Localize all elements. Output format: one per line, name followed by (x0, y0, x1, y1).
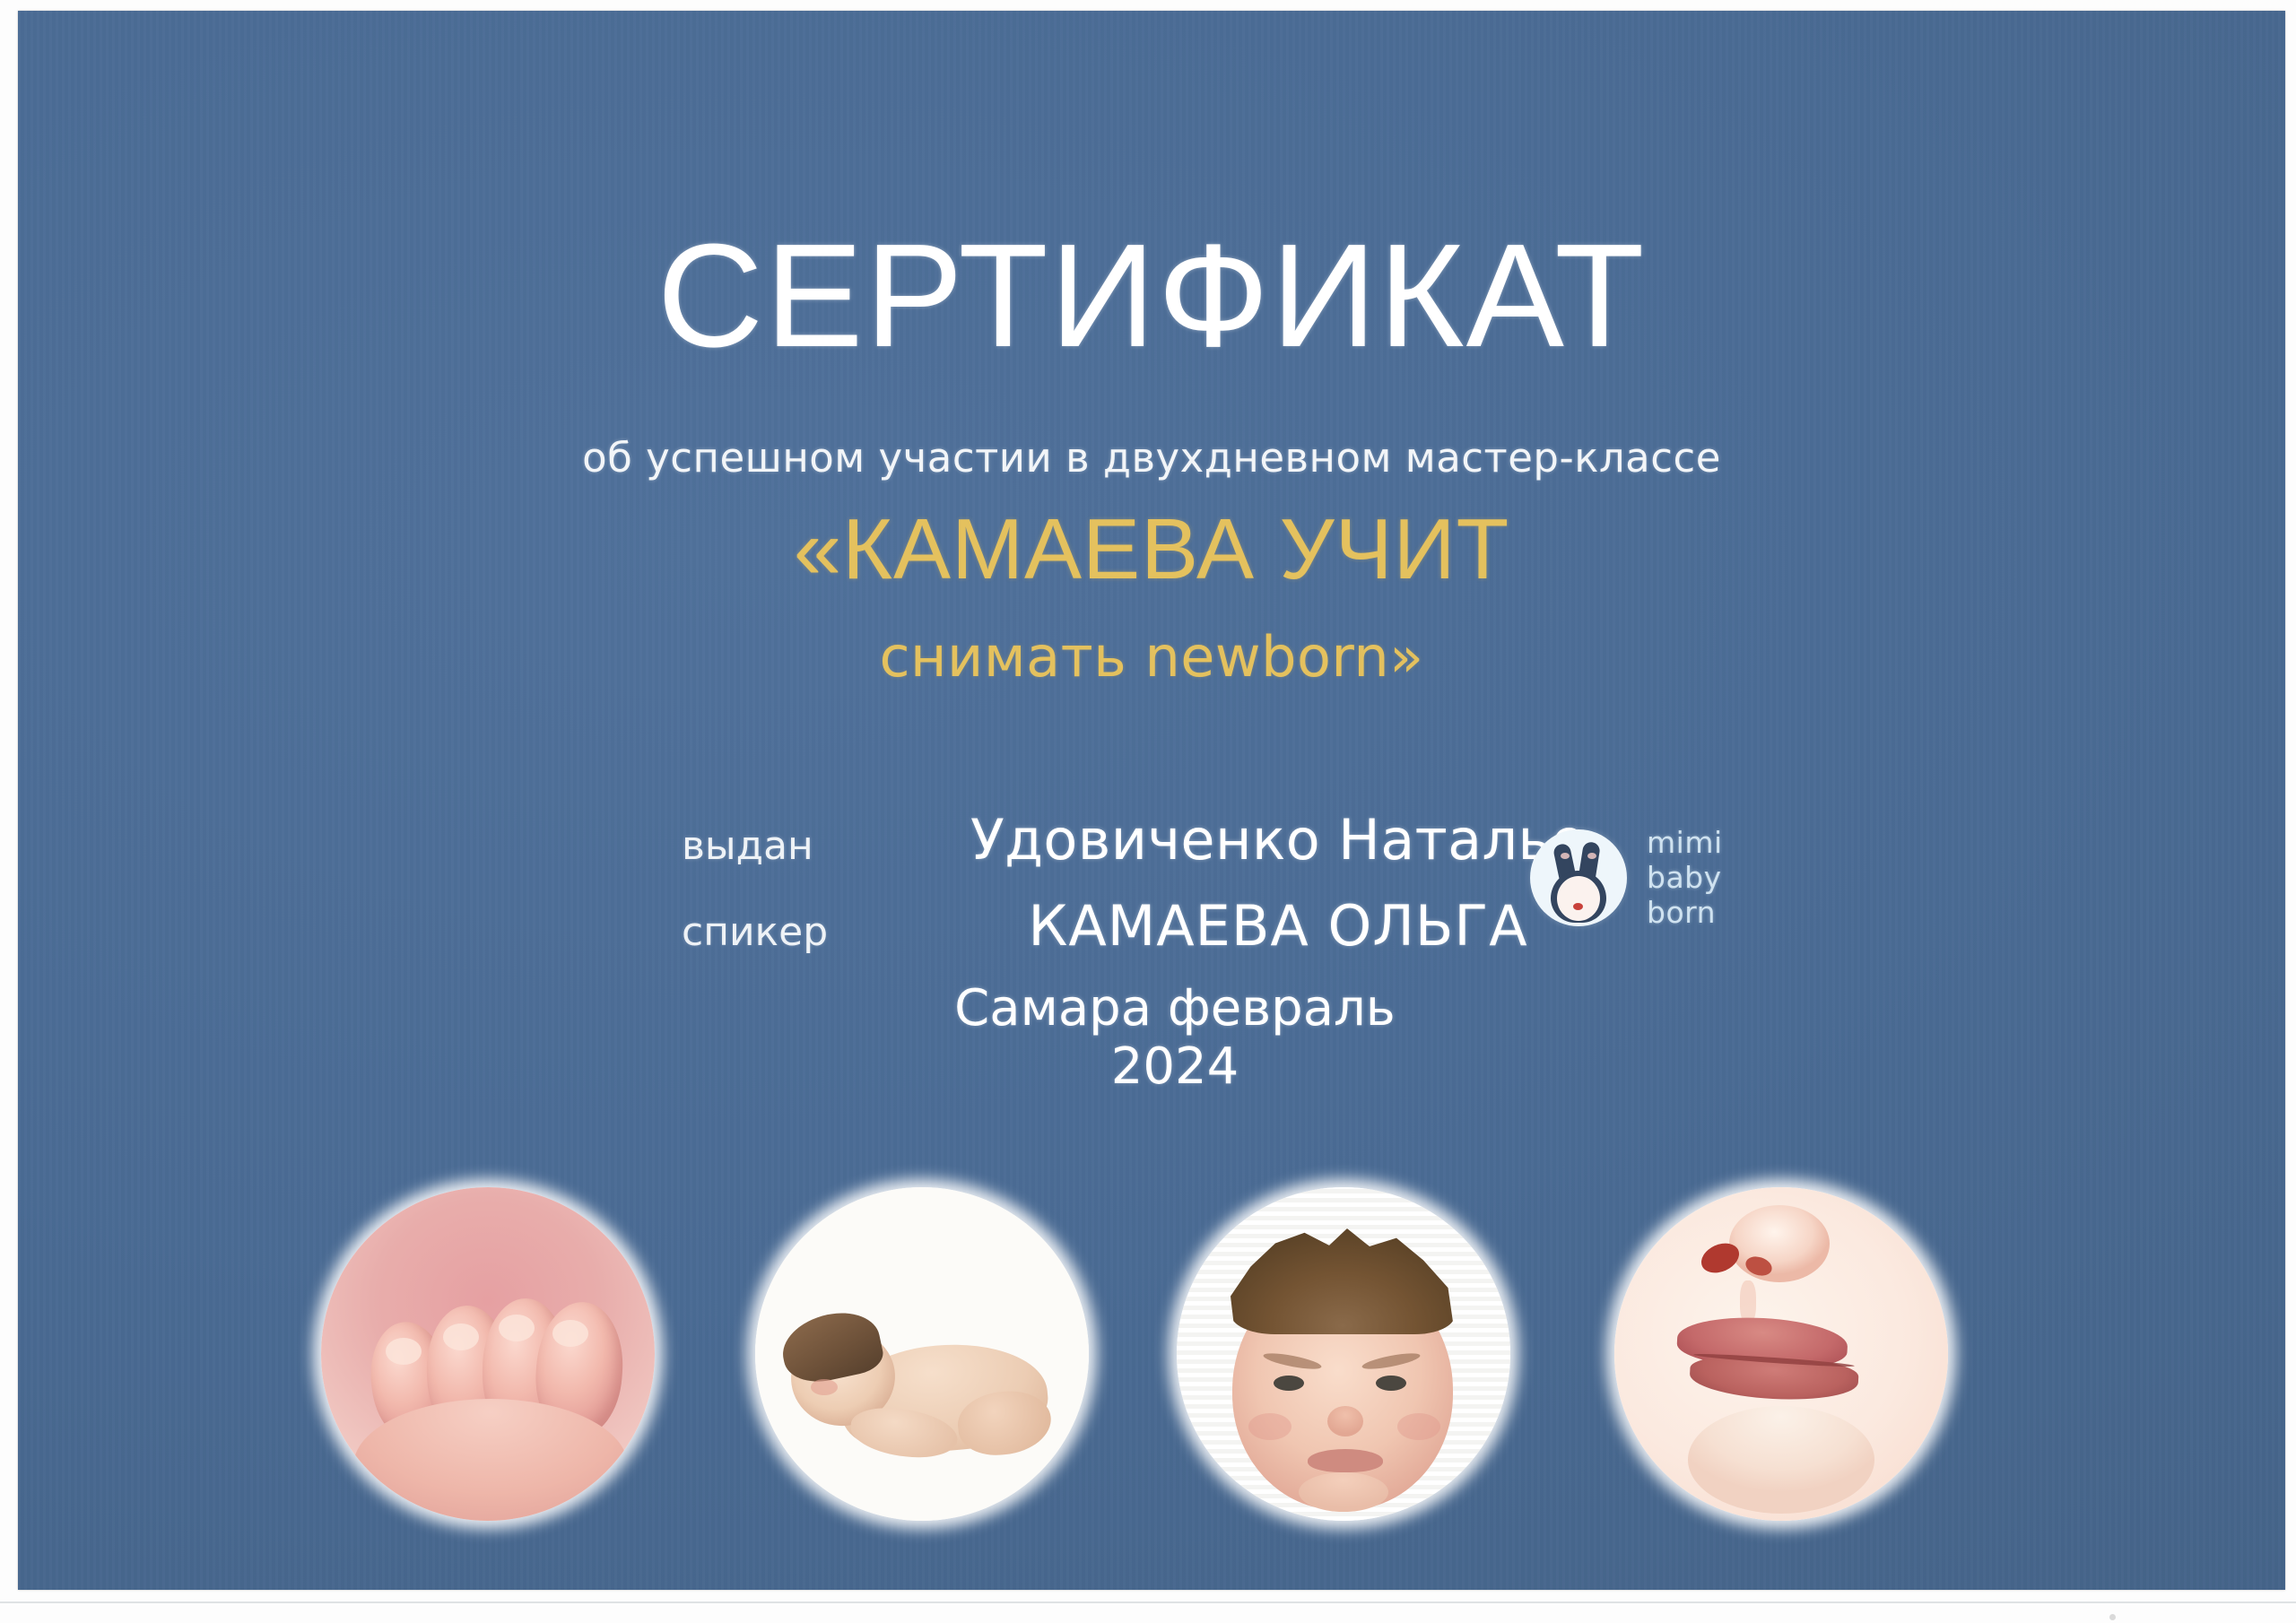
photo-baby-nose-and-lips-closeup (1614, 1187, 1948, 1521)
mouth-shape (1308, 1449, 1383, 1472)
cheek-right-shape (1397, 1413, 1440, 1440)
cheek-right-icon (1587, 853, 1596, 859)
photo-sleeping-newborn (755, 1187, 1089, 1521)
photo-crying-baby-face (1177, 1187, 1510, 1521)
eye-left-shape (1274, 1376, 1304, 1391)
detail-row-recipient: выдан Удовиченко Наталье (682, 807, 1668, 893)
baby-face-icon (1557, 876, 1600, 921)
eye-right-shape (1376, 1376, 1406, 1391)
cheek-left-icon (1561, 853, 1570, 859)
brand-logo: mimi baby born (1530, 811, 1799, 945)
toenail-shape (552, 1320, 588, 1347)
toenail-shape (499, 1315, 535, 1341)
chin-shape (1299, 1472, 1388, 1512)
page-title: СЕРТИФИКАТ (18, 222, 2285, 369)
photo-baby-toes-closeup (321, 1187, 655, 1521)
recipient-label: выдан (682, 823, 888, 869)
brand-name-line-2: baby (1647, 863, 1723, 893)
baby-bunny-logo-icon (1530, 829, 1627, 926)
nose-shape (1327, 1406, 1363, 1436)
scan-edge-line (0, 1601, 2296, 1603)
scan-speck (2109, 1614, 2116, 1620)
mouth-icon (1573, 903, 1583, 910)
scanned-page: СЕРТИФИКАТ об успешном участии в двухдне… (0, 0, 2296, 1623)
baby-cheek-shape (811, 1379, 838, 1395)
toenail-shape (443, 1324, 479, 1350)
course-title-line-1: «КАМАЕВА УЧИТ (18, 507, 2285, 593)
photo-artwork (1177, 1187, 1510, 1521)
detail-row-speaker: спикер КАМАЕВА ОЛЬГА (682, 893, 1668, 979)
certificate-subtitle: об успешном участии в двухдневном мастер… (18, 434, 2285, 482)
certificate-card: СЕРТИФИКАТ об успешном участии в двухдне… (18, 11, 2285, 1590)
brand-name-line-1: mimi (1647, 828, 1723, 858)
course-title-line-2: снимать newborn» (18, 629, 2285, 685)
toenail-shape (386, 1338, 422, 1365)
cheek-left-shape (1248, 1413, 1291, 1440)
hair-tuft-icon (1574, 871, 1583, 881)
photo-artwork (321, 1187, 655, 1521)
photo-artwork (1614, 1187, 1948, 1521)
award-details: выдан Удовиченко Наталье спикер КАМАЕВА … (682, 807, 1668, 979)
brand-wordmark: mimi baby born (1647, 828, 1723, 929)
speaker-label: спикер (682, 909, 888, 955)
brand-name-line-3: born (1647, 898, 1723, 928)
nose-shape (1729, 1205, 1830, 1282)
chin-shape (1688, 1406, 1874, 1514)
photo-gallery (18, 1175, 2285, 1551)
place-and-date: Самара февраль 2024 (888, 979, 1462, 1096)
photo-artwork (755, 1187, 1089, 1521)
